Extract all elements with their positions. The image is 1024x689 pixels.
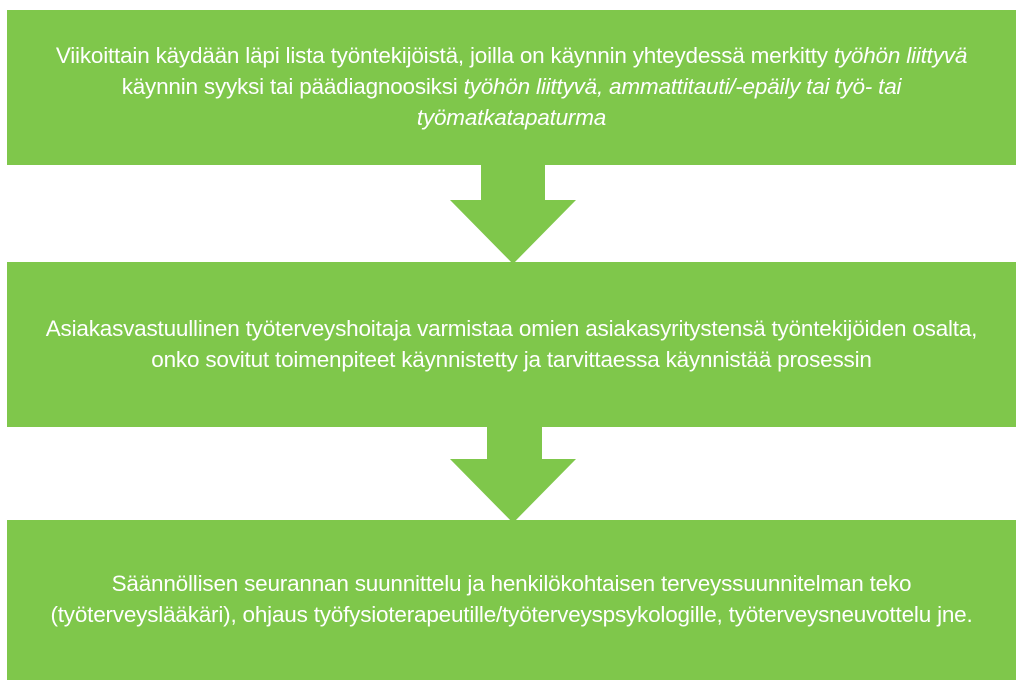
- flow-step-text-3: Säännöllisen seurannan suunnittelu ja he…: [7, 569, 1016, 631]
- flow-step-box-1: Viikoittain käydään läpi lista työntekij…: [7, 10, 1016, 165]
- flow-step-box-3: Säännöllisen seurannan suunnittelu ja he…: [7, 520, 1016, 680]
- flowchart-canvas: Viikoittain käydään läpi lista työntekij…: [0, 0, 1024, 689]
- flow-step-text-2: Asiakasvastuullinen työterveyshoitaja va…: [7, 314, 1016, 376]
- down-arrow-icon: [450, 163, 576, 264]
- flow-step-box-2: Asiakasvastuullinen työterveyshoitaja va…: [7, 262, 1016, 427]
- down-arrow-icon: [450, 425, 576, 523]
- flow-step-text-1: Viikoittain käydään läpi lista työntekij…: [7, 41, 1016, 133]
